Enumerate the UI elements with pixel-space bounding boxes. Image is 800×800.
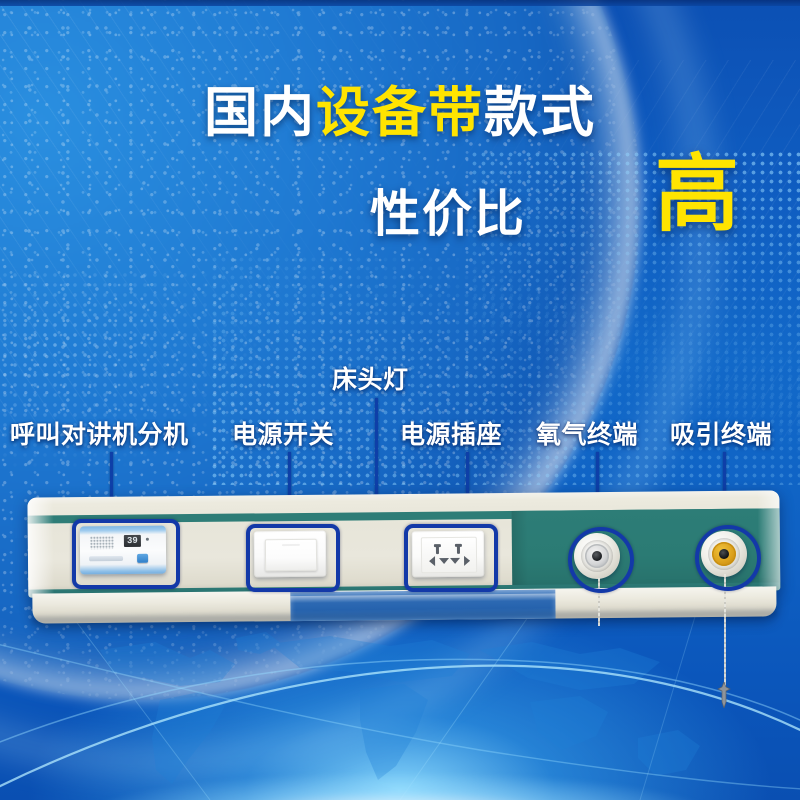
callout-label-intercom: 呼叫对讲机分机 bbox=[10, 415, 189, 451]
subtitle-emphasis: 高 bbox=[655, 152, 739, 236]
cord-pull-handle-icon[interactable] bbox=[717, 682, 731, 708]
highlight-circle-oxygen bbox=[568, 527, 634, 593]
panel-teal-edge-shadow bbox=[512, 511, 529, 593]
callout-label-suction-terminal: 吸引终端 bbox=[670, 415, 772, 451]
highlight-box-power-socket bbox=[404, 524, 498, 592]
highlight-circle-suction bbox=[695, 525, 761, 591]
callout-label-oxygen-terminal: 氧气终端 bbox=[536, 415, 638, 451]
headline-part-2: 设备带 bbox=[316, 83, 484, 143]
page-title: 国内设备带款式 bbox=[0, 86, 800, 140]
panel-left-cap-highlight bbox=[27, 497, 54, 597]
headline-part-1: 国内 bbox=[204, 83, 316, 143]
highlight-box-power-switch bbox=[246, 524, 340, 592]
callout-label-power-socket: 电源插座 bbox=[400, 415, 502, 451]
top-edge-band bbox=[0, 0, 800, 6]
product-banner: 国内设备带款式 性价比 高 呼叫对讲机分机 电源开关 床头灯 电源插座 氧气终端… bbox=[0, 0, 800, 800]
panel-right-cap-highlight bbox=[757, 490, 780, 590]
headline-part-3: 款式 bbox=[484, 83, 596, 143]
callout-label-bed-lamp: 床头灯 bbox=[332, 360, 409, 396]
callout-label-power-switch: 电源开关 bbox=[232, 415, 334, 451]
horizon-glow bbox=[0, 755, 800, 800]
highlight-box-intercom bbox=[72, 519, 180, 589]
subtitle: 性价比 高 bbox=[0, 166, 800, 246]
subtitle-text: 性价比 bbox=[370, 174, 526, 246]
